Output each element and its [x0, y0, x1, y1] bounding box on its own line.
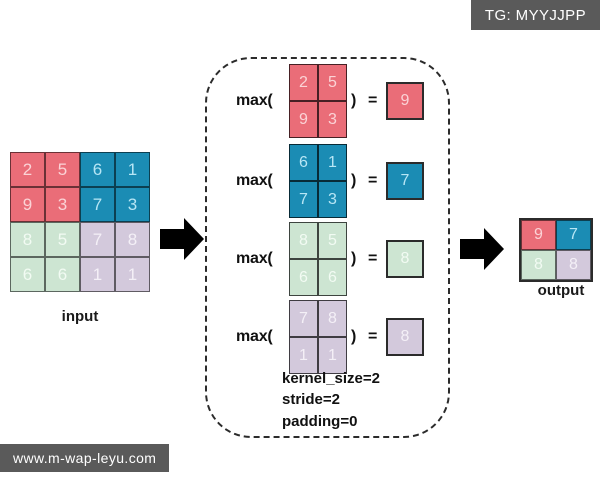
pooling-window-cell: 7 [289, 181, 318, 218]
param-stride: stride=2 [282, 389, 380, 410]
output-cell: 8 [556, 250, 591, 280]
pooling-window-cell: 6 [289, 144, 318, 181]
input-cell: 6 [10, 257, 45, 292]
input-label: input [10, 308, 150, 325]
input-cell: 8 [115, 222, 150, 257]
input-cell: 3 [45, 187, 80, 222]
input-cell: 1 [115, 152, 150, 187]
output-cell: 9 [521, 220, 556, 250]
input-cell: 3 [115, 187, 150, 222]
max-function-open: max( [236, 328, 273, 346]
max-operation-row: max(6173)=7 [236, 144, 441, 218]
pooling-window-cell: 8 [289, 222, 318, 259]
pooling-window-matrix: 8566 [289, 222, 347, 296]
input-cell: 6 [45, 257, 80, 292]
param-padding: padding=0 [282, 411, 380, 432]
input-matrix: 2561937385786611 [10, 152, 150, 292]
pooling-window-cell: 5 [318, 222, 347, 259]
pooling-window-cell: 9 [289, 101, 318, 138]
input-cell: 2 [10, 152, 45, 187]
pooling-window-cell: 8 [318, 300, 347, 337]
input-cell: 1 [80, 257, 115, 292]
pooling-window-matrix: 2593 [289, 64, 347, 138]
pooling-window-cell: 7 [289, 300, 318, 337]
max-function-open: max( [236, 172, 273, 190]
maxpool-diagram: TG: MYYJJPP www.m-wap-leyu.com 256193738… [0, 0, 600, 480]
input-cell: 8 [10, 222, 45, 257]
pooling-window-cell: 1 [318, 144, 347, 181]
param-kernel-size: kernel_size=2 [282, 368, 380, 389]
equals-sign: = [368, 92, 377, 110]
output-label: output [519, 282, 600, 299]
pooling-window-cell: 5 [318, 64, 347, 101]
equals-sign: = [368, 328, 377, 346]
input-cell: 9 [10, 187, 45, 222]
max-operation-row: max(7811)=8 [236, 300, 441, 374]
max-operation-row: max(8566)=8 [236, 222, 441, 296]
input-cell: 7 [80, 187, 115, 222]
arrow-pooling-to-output [458, 226, 506, 272]
output-cell: 7 [556, 220, 591, 250]
input-cell: 5 [45, 222, 80, 257]
paren-close: ) [351, 250, 356, 268]
pooling-result-cell: 7 [386, 162, 424, 200]
pooling-window-cell: 6 [318, 259, 347, 296]
paren-close: ) [351, 328, 356, 346]
input-cell: 1 [115, 257, 150, 292]
watermark-bottom-left: www.m-wap-leyu.com [0, 444, 169, 472]
input-cell: 5 [45, 152, 80, 187]
pooling-window-cell: 3 [318, 181, 347, 218]
arrow-input-to-pooling [158, 216, 206, 262]
paren-close: ) [351, 172, 356, 190]
equals-sign: = [368, 250, 377, 268]
pooling-window-cell: 6 [289, 259, 318, 296]
watermark-top-right: TG: MYYJJPP [471, 0, 600, 30]
pooling-parameters: kernel_size=2 stride=2 padding=0 [282, 368, 380, 432]
paren-close: ) [351, 92, 356, 110]
output-cell: 8 [521, 250, 556, 280]
input-cell: 6 [80, 152, 115, 187]
pooling-window-matrix: 7811 [289, 300, 347, 374]
input-cell: 7 [80, 222, 115, 257]
pooling-window-matrix: 6173 [289, 144, 347, 218]
output-matrix: 9788 [519, 218, 593, 282]
max-operation-row: max(2593)=9 [236, 64, 441, 138]
max-function-open: max( [236, 250, 273, 268]
equals-sign: = [368, 172, 377, 190]
max-function-open: max( [236, 92, 273, 110]
pooling-result-cell: 8 [386, 318, 424, 356]
pooling-result-cell: 9 [386, 82, 424, 120]
pooling-window-cell: 2 [289, 64, 318, 101]
pooling-window-cell: 3 [318, 101, 347, 138]
pooling-result-cell: 8 [386, 240, 424, 278]
